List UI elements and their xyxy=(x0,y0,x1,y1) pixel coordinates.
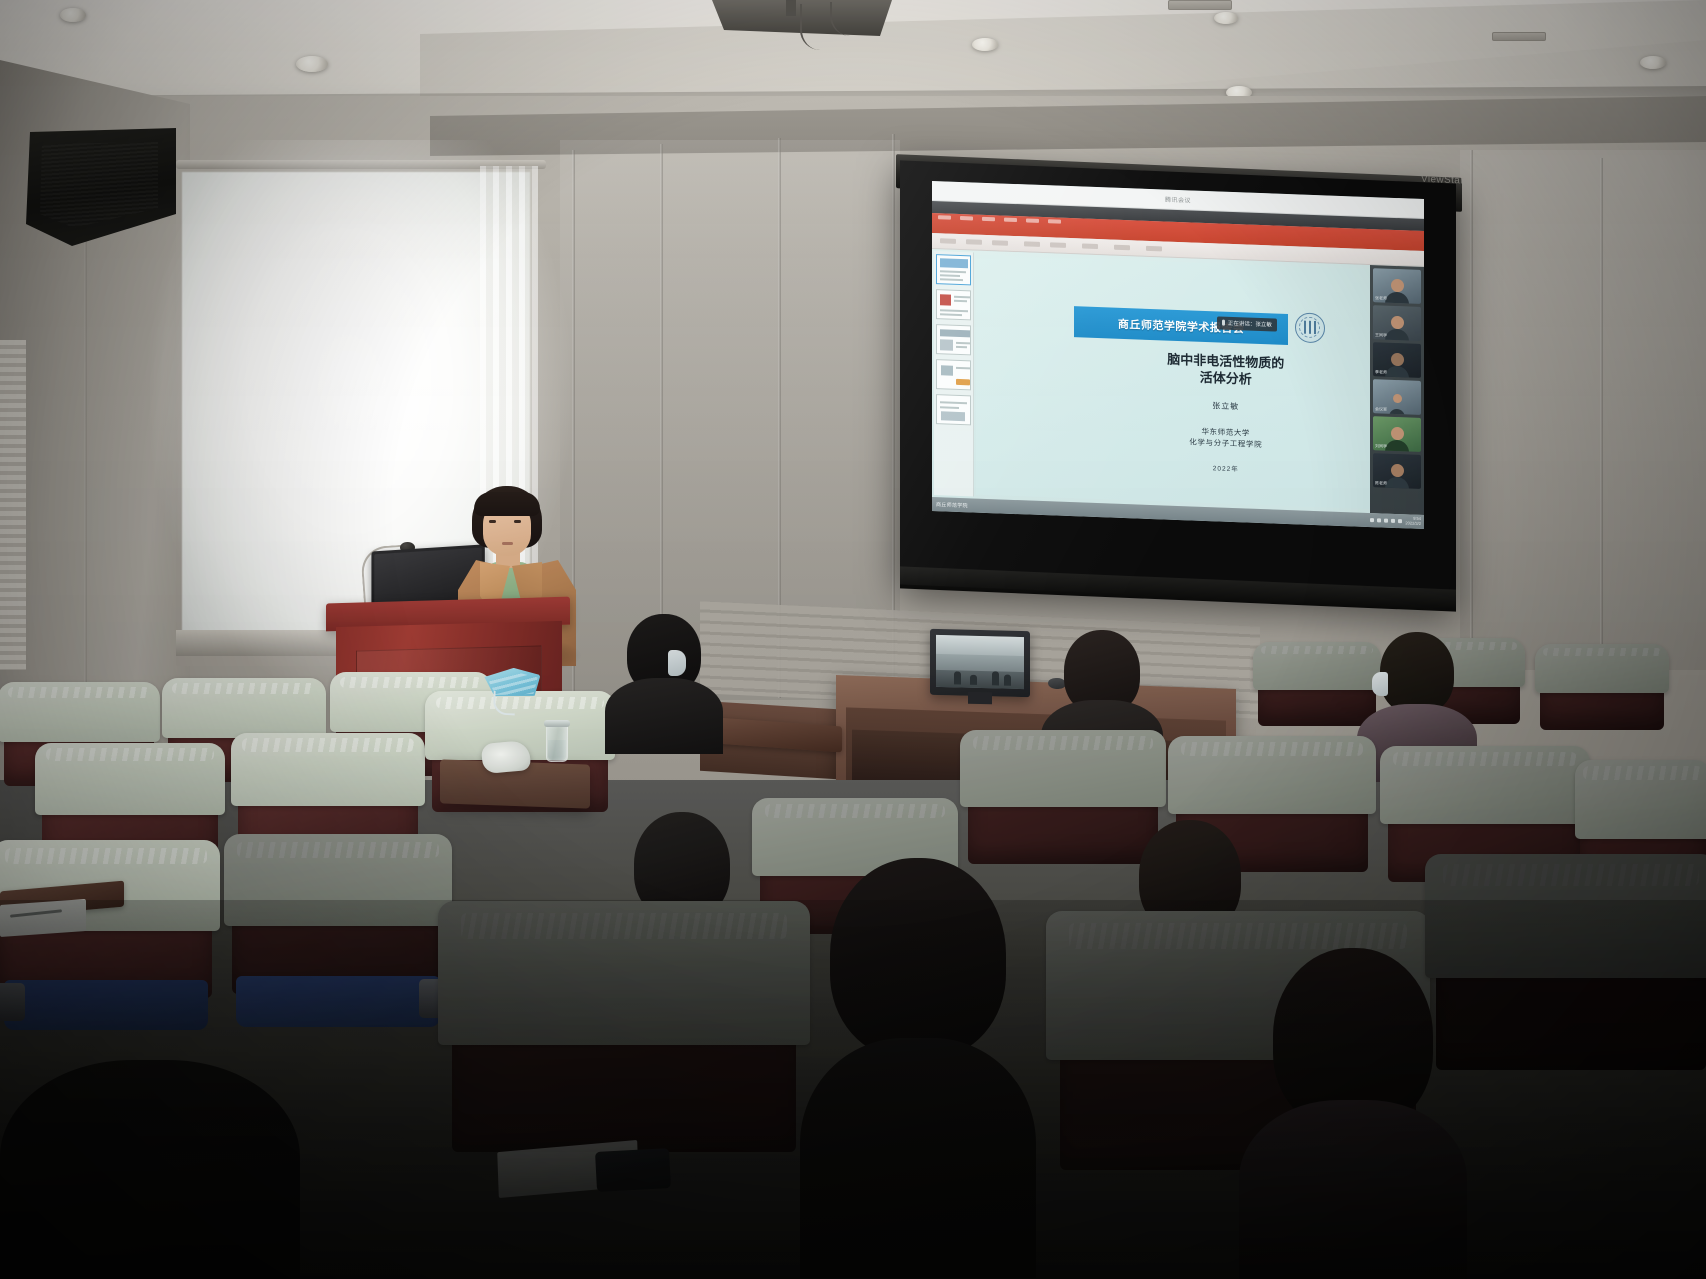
floor-shadow xyxy=(0,900,1706,1279)
meeting-window-title: 腾讯会议 xyxy=(1165,195,1191,205)
slide-thumbnail[interactable] xyxy=(936,324,971,355)
taskbar-start-label[interactable]: 商丘师范学院 xyxy=(936,501,968,509)
downlight xyxy=(296,56,328,72)
camera-feed-figure xyxy=(1004,675,1011,686)
ribbon-tab[interactable] xyxy=(1026,218,1039,222)
tray-icon[interactable] xyxy=(1370,518,1374,522)
taskbar-clock: 9:54 2022/3/2 xyxy=(1405,517,1421,527)
participant-tile[interactable]: 陈老师 xyxy=(1373,453,1421,489)
avatar xyxy=(1393,393,1402,402)
ribbon-tab[interactable] xyxy=(1048,219,1061,223)
avatar-body xyxy=(1385,366,1409,378)
face-mask-icon xyxy=(1372,672,1388,696)
water-cup xyxy=(546,724,568,762)
avatar-body xyxy=(1389,409,1405,415)
camera-feed-figure xyxy=(954,671,961,684)
window-blind xyxy=(0,340,26,670)
ribbon-tab[interactable] xyxy=(982,217,995,221)
avatar-body xyxy=(1385,477,1409,489)
downlight xyxy=(1640,56,1666,69)
ribbon-tab[interactable] xyxy=(938,215,951,219)
ribbon-tab[interactable] xyxy=(1004,218,1017,222)
avatar xyxy=(1391,279,1404,292)
participant-name: 李老师 xyxy=(1375,369,1387,375)
active-speaker-chip: 正在讲话：张立敏 xyxy=(1217,316,1277,331)
projector-mount xyxy=(786,0,796,16)
slide-thumbnail[interactable] xyxy=(936,254,971,285)
slide-affiliation: 华东师范大学 化学与分子工程学院 xyxy=(1110,423,1342,454)
projected-meeting-window: 腾讯会议 xyxy=(932,181,1424,529)
avatar-body xyxy=(1385,329,1409,341)
avatar xyxy=(1391,464,1404,477)
participant-tile[interactable]: 李老师 xyxy=(1373,342,1421,378)
downlight xyxy=(972,38,998,51)
active-speaker-label: 正在讲话：张立敏 xyxy=(1228,319,1272,329)
downlight xyxy=(1214,12,1238,24)
surgical-mask-icon xyxy=(484,665,545,717)
slide-thumbnail[interactable] xyxy=(936,394,971,425)
participant-tile[interactable]: 张老师 xyxy=(1373,268,1421,304)
microphone-icon xyxy=(1222,320,1225,326)
ceiling-vent xyxy=(1168,0,1232,10)
slide-year: 2022年 xyxy=(1110,459,1342,478)
cup-lid xyxy=(544,720,570,727)
participant-tile[interactable]: 刘同学 xyxy=(1373,416,1421,452)
presenter-mouth xyxy=(502,542,513,545)
presentation-slide: 商丘师范学院学术报告会 脑中非电活性物质的 活体分析 张立敏 华东师范大学 化学… xyxy=(976,255,1422,511)
participant-name: 会议室 xyxy=(1375,406,1387,412)
wall-panel-band xyxy=(1460,150,1706,670)
ribbon-tab[interactable] xyxy=(960,216,973,220)
avatar-body xyxy=(1385,292,1409,304)
camera-feed-figure xyxy=(992,671,999,685)
tray-icon[interactable] xyxy=(1391,519,1395,523)
monitor-camera-feed xyxy=(936,635,1024,689)
audience-shoulders xyxy=(605,678,723,754)
wall-panel-seam xyxy=(84,230,87,700)
tray-icon[interactable] xyxy=(1384,519,1388,523)
avatar xyxy=(1391,427,1404,440)
camera-feed-figure xyxy=(970,675,977,685)
participant-name: 陈老师 xyxy=(1375,480,1387,486)
presenter-bangs xyxy=(474,492,540,516)
participant-tile[interactable]: 王同学 xyxy=(1373,305,1421,341)
slide-thumbnail[interactable] xyxy=(936,289,971,320)
projector-cable xyxy=(830,2,886,36)
participant-video-rail[interactable]: 张老师 王同学 李老师 会议室 刘同学 xyxy=(1370,265,1424,515)
monitor-stand xyxy=(968,692,992,705)
lecture-hall-photo: ViewStar 腾讯会议 xyxy=(0,0,1706,1279)
avatar-body xyxy=(1385,440,1409,452)
tray-icon[interactable] xyxy=(1377,518,1381,522)
slide-title: 脑中非电活性物质的 活体分析 xyxy=(1110,348,1342,391)
auditorium-seat[interactable] xyxy=(1540,650,1664,730)
system-tray[interactable]: 9:54 2022/3/2 xyxy=(1370,515,1421,526)
audience-head xyxy=(1380,632,1454,714)
slide-thumbnail[interactable] xyxy=(936,359,971,390)
avatar xyxy=(1391,316,1404,329)
university-seal-icon xyxy=(1295,312,1325,343)
participant-name: 王同学 xyxy=(1375,332,1387,338)
participant-name: 张老师 xyxy=(1375,295,1387,301)
presenter-eye xyxy=(489,520,496,523)
slide-thumbnail-rail[interactable] xyxy=(934,251,974,496)
slide-author: 张立敏 xyxy=(1110,396,1342,416)
face-mask-icon xyxy=(668,650,686,676)
ceiling-vent xyxy=(1492,32,1546,41)
tray-icon[interactable] xyxy=(1398,519,1402,523)
tissue xyxy=(481,740,531,774)
downlight xyxy=(60,8,86,22)
participant-tile[interactable]: 会议室 xyxy=(1373,379,1421,415)
avatar xyxy=(1391,353,1404,366)
audience-member xyxy=(604,614,724,754)
participant-name: 刘同学 xyxy=(1375,443,1387,449)
presenter-eye xyxy=(514,520,521,523)
